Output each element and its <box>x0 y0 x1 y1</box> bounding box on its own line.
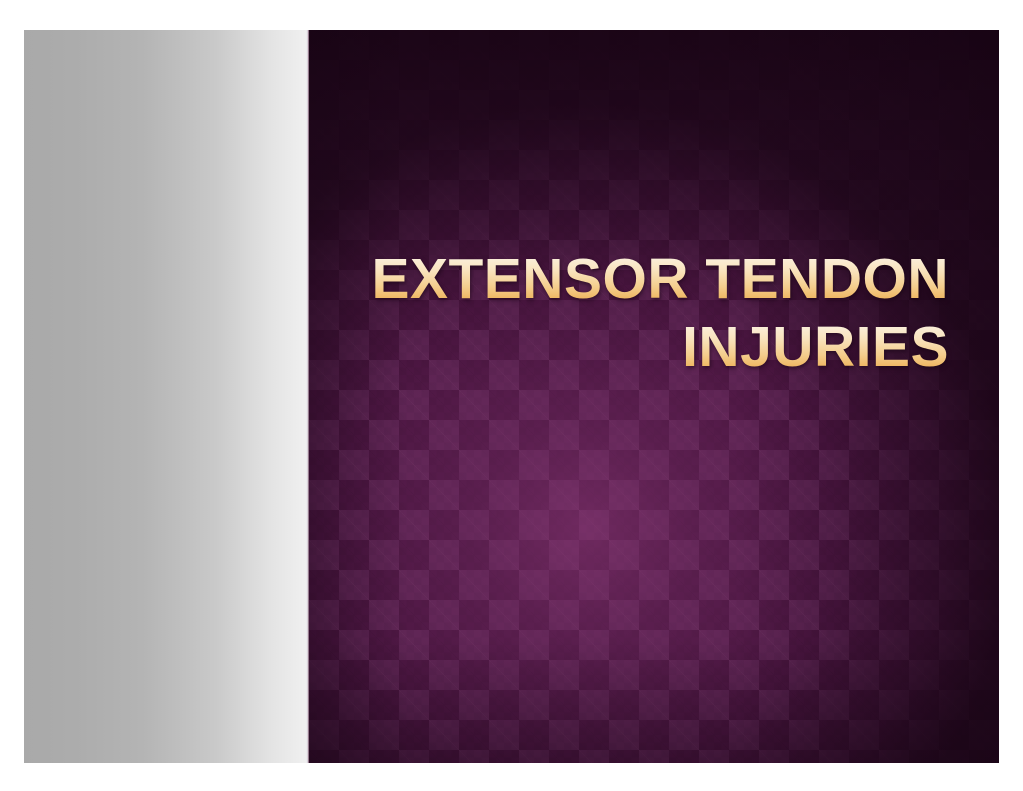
slide-sidebar-band <box>24 30 306 763</box>
slide-title-line-1: EXTENSOR TENDON <box>369 245 949 313</box>
page-canvas: EXTENSOR TENDON INJURIES <box>0 0 1023 791</box>
slide-title: EXTENSOR TENDON INJURIES <box>369 245 949 381</box>
background-vignette-bottom <box>309 30 999 763</box>
slide-background-panel: EXTENSOR TENDON INJURIES <box>309 30 999 763</box>
presentation-slide: EXTENSOR TENDON INJURIES <box>24 30 999 763</box>
slide-title-line-2: INJURIES <box>369 313 949 381</box>
